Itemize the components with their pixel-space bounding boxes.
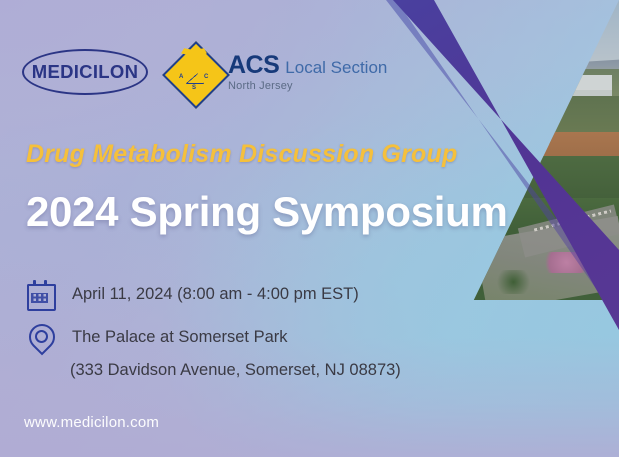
event-date-text: April 11, 2024 (8:00 am - 4:00 pm EST) (72, 285, 359, 304)
calendar-grid (31, 293, 48, 303)
calendar-peg-left (33, 280, 36, 286)
event-headline: 2024 Spring Symposium (26, 188, 508, 236)
event-kicker: Drug Metabolism Discussion Group (26, 140, 457, 169)
detail-row-venue: The Palace at Somerset Park (24, 321, 359, 353)
pin-center-dot (35, 330, 48, 343)
calendar-peg-right (44, 280, 47, 286)
acs-letter-c: C (204, 74, 208, 80)
event-details: April 11, 2024 (8:00 am - 4:00 pm EST) T… (24, 278, 359, 364)
logo-row: MEDICILON A C S ACS Local Section North (22, 47, 387, 97)
acs-letter-s: S (192, 85, 196, 91)
website-url[interactable]: www.medicilon.com (24, 414, 159, 431)
acs-subtitle: Local Section (285, 59, 387, 76)
acs-letter-a: A (179, 74, 183, 80)
acs-title-row: ACS Local Section (228, 53, 387, 78)
medicilon-logo[interactable]: MEDICILON (22, 49, 148, 95)
calendar-header (27, 284, 56, 291)
poster-content: MEDICILON A C S ACS Local Section North (0, 0, 619, 457)
acs-wordmark: ACS Local Section North Jersey (228, 53, 387, 92)
acs-title: ACS (228, 53, 279, 78)
event-address: (333 Davidson Avenue, Somerset, NJ 08873… (70, 361, 401, 380)
medicilon-wordmark: MEDICILON (22, 49, 148, 95)
acs-logo[interactable]: A C S ACS Local Section North Jersey (168, 47, 387, 97)
calendar-icon (24, 278, 56, 310)
acs-diamond-logo-icon: A C S (168, 47, 220, 97)
event-venue-text: The Palace at Somerset Park (72, 328, 288, 347)
location-pin-icon (24, 321, 56, 353)
acs-section-name: North Jersey (228, 81, 387, 92)
detail-row-date: April 11, 2024 (8:00 am - 4:00 pm EST) (24, 278, 359, 310)
event-poster: MEDICILON A C S ACS Local Section North (0, 0, 619, 457)
